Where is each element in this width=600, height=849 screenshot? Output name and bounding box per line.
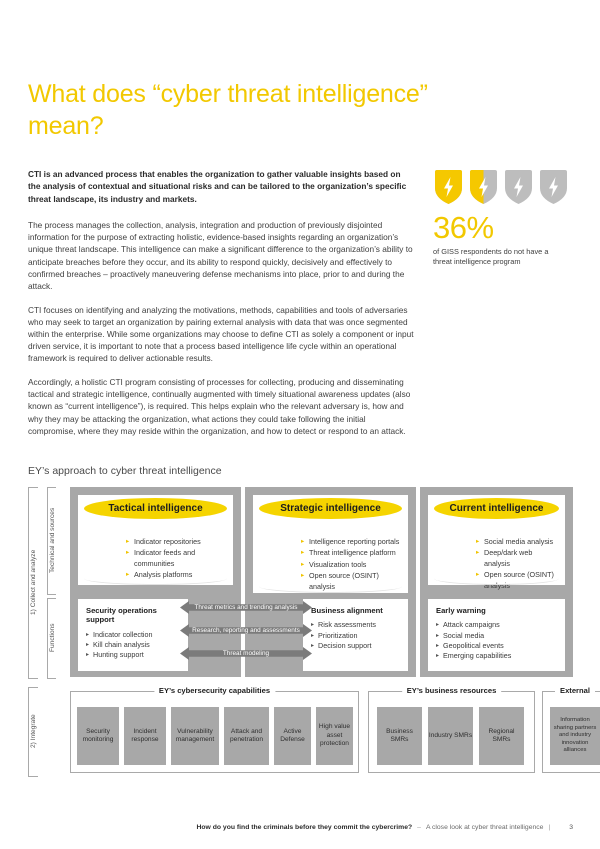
external-chip: Information sharing partners and industr… [550, 707, 600, 765]
list-item: Indicator feeds and communities [126, 548, 227, 569]
approach-diagram: 1) Collect and analyze Technical and sou… [28, 485, 573, 785]
arrow-research-reporting: Research, reporting and assessments [180, 624, 312, 637]
statistic-callout: 36% of GISS respondents do not have a th… [433, 168, 583, 266]
list-item: Geopolitical events [436, 641, 558, 651]
cylinder-title-tactical: Tactical intelligence [84, 498, 227, 519]
list-item: Intelligence reporting portals [301, 537, 402, 547]
cylinder-strategic: Strategic intelligence Intelligence repo… [253, 495, 408, 593]
function-box-security-operations: Security operations support Indicator co… [78, 599, 188, 671]
list-item: Visualization tools [301, 560, 402, 570]
function-box-business-alignment: Business alignment Risk assessments Prio… [303, 599, 408, 671]
footer-separator: – [417, 824, 421, 831]
panel-current: Current intelligence Social media analys… [420, 487, 573, 677]
page-title: What does “cyber threat intelligence” me… [28, 78, 448, 142]
stat-percent: 36% [433, 212, 583, 244]
cylinder-base [434, 572, 559, 585]
stat-caption: of GISS respondents do not have a threat… [433, 247, 553, 266]
list-item: Deep/dark web analysis [476, 548, 559, 569]
lead-paragraph: CTI is an advanced process that enables … [28, 168, 414, 205]
cylinder-base [259, 580, 402, 593]
list-item: Hunting support [86, 650, 181, 660]
function-box-items: Attack campaigns Social media Geopolitic… [436, 620, 558, 661]
list-item: Emerging capabilities [436, 651, 558, 661]
capability-chip: Incident response [124, 707, 166, 765]
capability-chip: Attack and penetration [224, 707, 269, 765]
list-item: Indicator repositories [126, 537, 227, 547]
diagram-heading: EY’s approach to cyber threat intelligen… [28, 465, 222, 477]
group-label: EY’s business resources [402, 686, 502, 695]
resource-chip: Business SMRs [377, 707, 422, 765]
resource-chip: Industry SMRs [428, 707, 473, 765]
arrow-threat-metrics: Threat metrics and trending analysis [180, 601, 312, 614]
arrow-threat-modeling: Threat modeling [180, 647, 312, 660]
page-number: 3 [569, 824, 573, 831]
paragraph-2: CTI focuses on identifying and analyzing… [28, 304, 414, 364]
list-item: Indicator collection [86, 630, 181, 640]
shield-icon-empty [538, 168, 569, 206]
stage-label-technical: Technical and sources [49, 487, 56, 593]
group-label: EY’s cybersecurity capabilities [154, 686, 275, 695]
shield-icon-filled [433, 168, 464, 206]
list-item: Kill chain analysis [86, 640, 181, 650]
group-label: External [555, 686, 595, 695]
capability-chip: Vulnerability management [171, 707, 219, 765]
group-cybersecurity-capabilities: EY’s cybersecurity capabilities Security… [70, 691, 359, 773]
function-box-title: Business alignment [311, 606, 401, 615]
shield-icon-half [468, 168, 499, 206]
capability-chip: High value asset protection [316, 707, 353, 765]
resource-chip: Regional SMRs [479, 707, 524, 765]
function-box-early-warning: Early warning Attack campaigns Social me… [428, 599, 565, 671]
cylinder-tactical: Tactical intelligence Indicator reposito… [78, 495, 233, 585]
capability-chip: Active Defense [274, 707, 311, 765]
list-item: Prioritization [311, 631, 401, 641]
stage-label-functions: Functions [49, 598, 56, 677]
list-item: Threat intelligence platform [301, 548, 402, 558]
list-item: Decision support [311, 641, 401, 651]
cylinder-title-strategic: Strategic intelligence [259, 498, 402, 519]
paragraph-3: Accordingly, a holistic CTI program cons… [28, 376, 414, 436]
group-business-resources: EY’s business resources Business SMRs In… [368, 691, 535, 773]
cylinder-title-current: Current intelligence [434, 498, 559, 519]
list-item: Attack campaigns [436, 620, 558, 630]
cylinder-current: Current intelligence Social media analys… [428, 495, 565, 585]
footer-title: How do you find the criminals before the… [197, 824, 413, 831]
cylinder-base [84, 572, 227, 585]
footer-subtitle: A close look at cyber threat intelligenc… [426, 824, 544, 831]
body-copy: CTI is an advanced process that enables … [28, 168, 414, 449]
stage-label-integrate: 2) Integrate [30, 687, 37, 775]
list-item: Risk assessments [311, 620, 401, 630]
document-page: What does “cyber threat intelligence” me… [0, 0, 600, 849]
list-item: Social media analysis [476, 537, 559, 547]
function-box-items: Indicator collection Kill chain analysis… [86, 630, 181, 661]
shield-icon-empty [503, 168, 534, 206]
paragraph-1: The process manages the collection, anal… [28, 219, 414, 292]
shield-rating [433, 168, 583, 206]
group-external: External Information sharing partners an… [542, 691, 600, 773]
capability-chip: Security monitoring [77, 707, 119, 765]
list-item: Social media [436, 631, 558, 641]
page-footer: How do you find the criminals before the… [0, 824, 600, 831]
function-box-title: Security operations support [86, 606, 181, 625]
stage-label-collect: 1) Collect and analyze [30, 487, 37, 677]
footer-divider: | [548, 824, 550, 831]
function-box-title: Early warning [436, 606, 558, 615]
function-box-items: Risk assessments Prioritization Decision… [311, 620, 401, 651]
